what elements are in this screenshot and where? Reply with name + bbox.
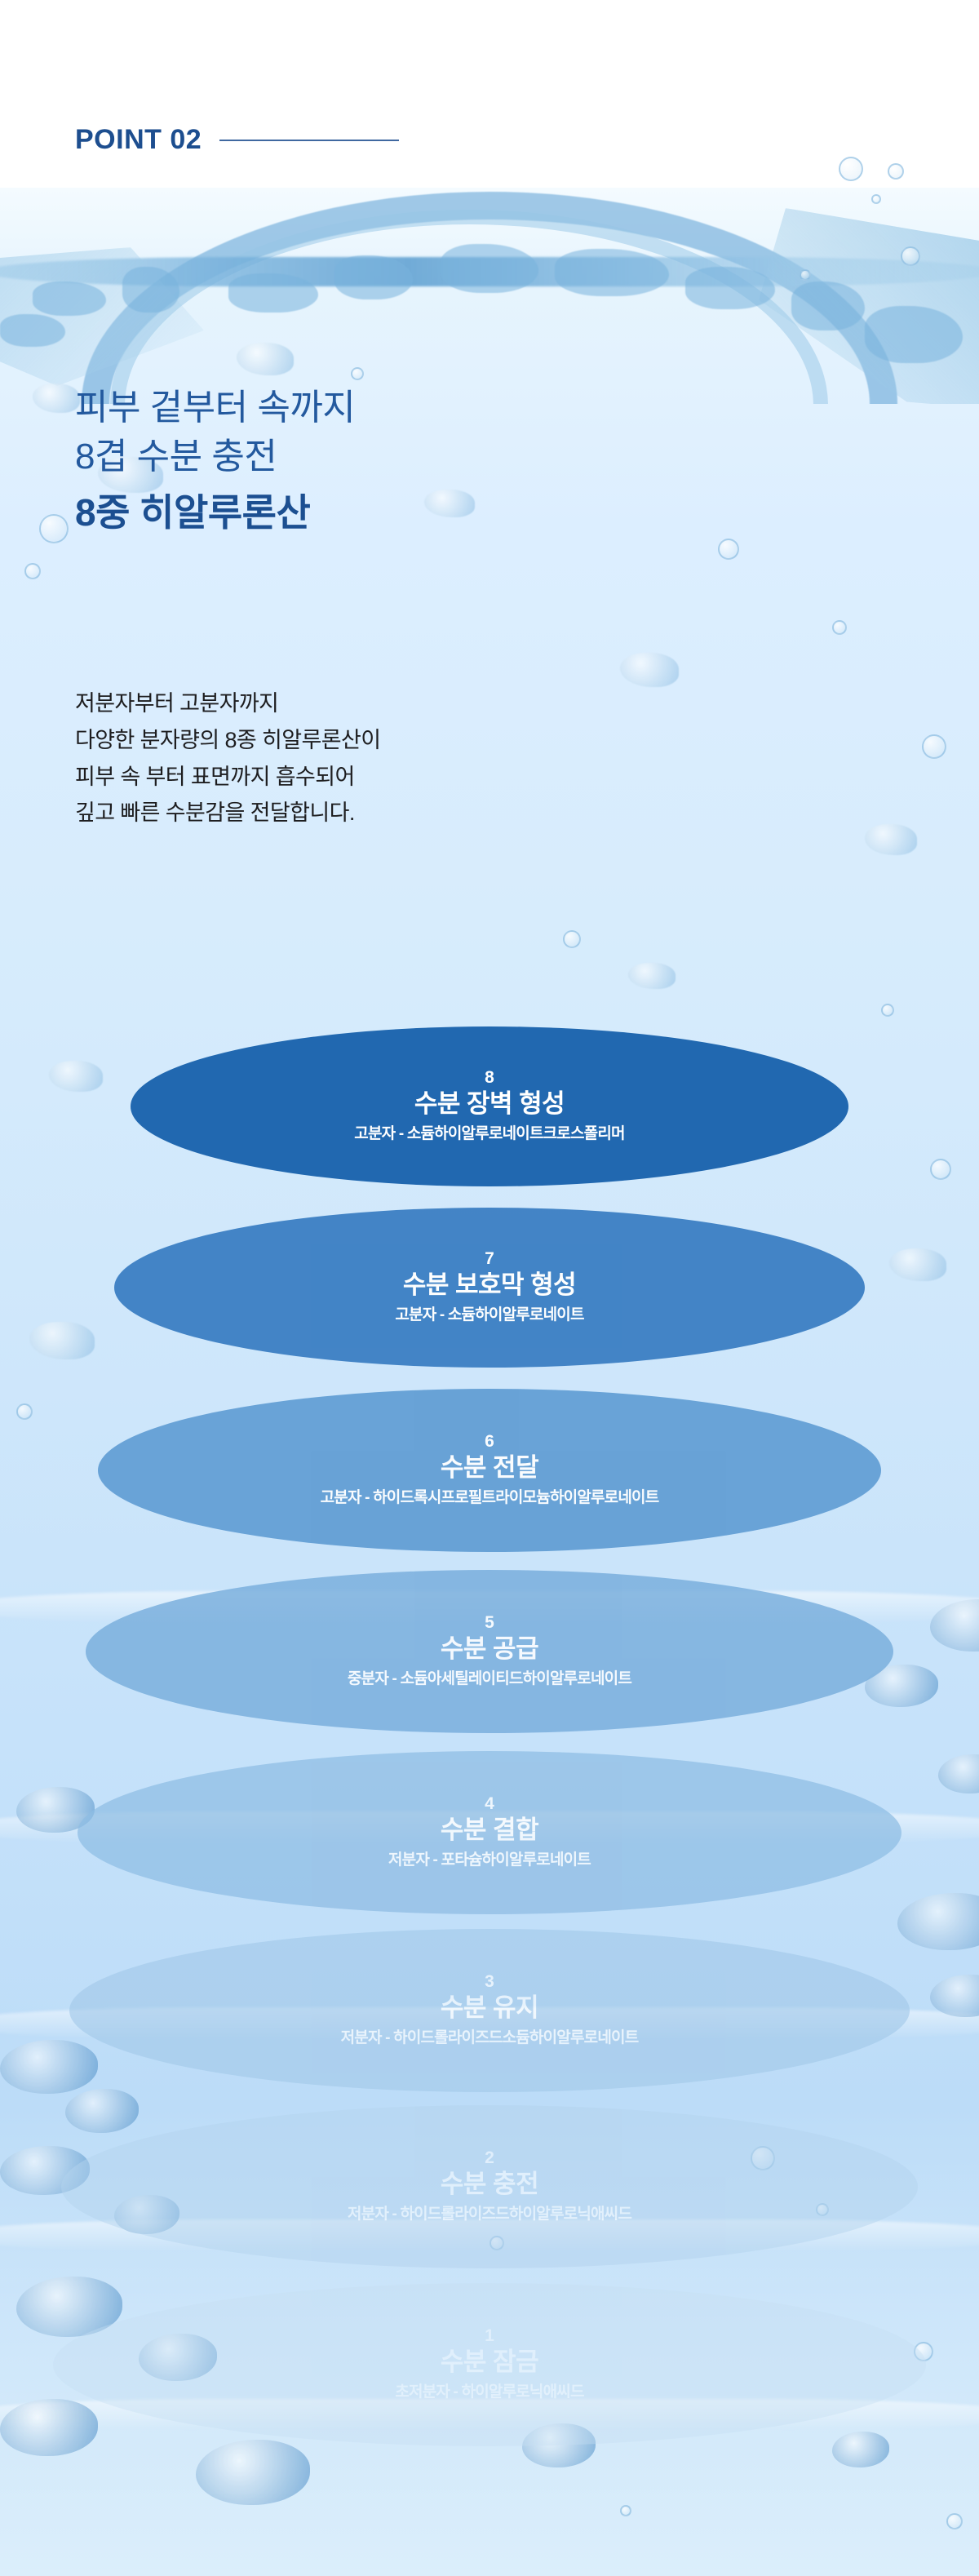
bubble-icon xyxy=(351,367,364,380)
bubble-icon xyxy=(922,734,946,759)
point-header: POINT 02 xyxy=(75,124,399,156)
layer-1-subtitle: 초저분자 - 하이알루로닉애씨드 xyxy=(395,2383,583,2402)
bubble-icon xyxy=(839,157,863,181)
layer-2: 2 수분 충전 저분자 - 하이드롤라이즈드하이알루로닉애씨드 xyxy=(61,2105,918,2268)
layer-3-title: 수분 유지 xyxy=(441,1994,538,2023)
layer-7-subtitle: 고분자 - 소듐하이알루로네이트 xyxy=(395,1306,583,1325)
point-label: POINT 02 xyxy=(75,124,202,156)
body-line-4: 깊고 빠른 수분감을 전달합니다. xyxy=(75,795,380,831)
layer-1-number: 1 xyxy=(485,2327,494,2344)
headline-line-1: 피부 겉부터 속까지 xyxy=(75,384,355,432)
layer-7: 7 수분 보호막 형성 고분자 - 소듐하이알루로네이트 xyxy=(114,1208,865,1368)
layer-4-subtitle: 저분자 - 포타슘하이알루로네이트 xyxy=(388,1851,591,1870)
layer-6-subtitle: 고분자 - 하이드록시프로필트라이모늄하이알루로네이트 xyxy=(321,1489,659,1508)
bubble-icon xyxy=(901,246,920,266)
layer-6-title: 수분 전달 xyxy=(441,1454,538,1483)
layer-8-number: 8 xyxy=(485,1069,494,1086)
water-splash-image xyxy=(0,159,979,404)
bubble-icon xyxy=(946,2513,963,2529)
bubble-icon xyxy=(620,2505,631,2516)
layer-5-number: 5 xyxy=(485,1614,494,1631)
layer-1: 1 수분 잠금 초저분자 - 하이알루로닉애씨드 xyxy=(53,2283,926,2446)
body-line-2: 다양한 분자량의 8종 히알루론산이 xyxy=(75,722,380,759)
layer-4-number: 4 xyxy=(485,1795,494,1812)
layer-5-title: 수분 공급 xyxy=(441,1635,538,1664)
layer-6: 6 수분 전달 고분자 - 하이드록시프로필트라이모늄하이알루로네이트 xyxy=(98,1389,881,1552)
body-line-1: 저분자부터 고분자까지 xyxy=(75,685,380,722)
layer-6-number: 6 xyxy=(485,1433,494,1450)
headline-line-2: 8겹 수분 충전 xyxy=(75,432,355,481)
bubble-icon xyxy=(563,930,581,948)
bubble-icon xyxy=(718,539,739,560)
layer-3-number: 3 xyxy=(485,1973,494,1990)
layer-1-title: 수분 잠금 xyxy=(441,2348,538,2377)
headline-line-3: 8중 히알루론산 xyxy=(75,486,355,539)
layer-8: 8 수분 장벽 형성 고분자 - 소듐하이알루로네이트크로스폴리머 xyxy=(131,1026,848,1186)
bubble-icon xyxy=(39,514,69,543)
bubble-icon xyxy=(832,620,847,635)
layer-7-title: 수분 보호막 형성 xyxy=(403,1271,576,1300)
bubble-icon xyxy=(881,1004,894,1017)
hyaluronic-layer-stack: 8 수분 장벽 형성 고분자 - 소듐하이알루로네이트크로스폴리머 7 수분 보… xyxy=(0,1026,979,2463)
layer-3: 3 수분 유지 저분자 - 하이드롤라이즈드소듐하이알루로네이트 xyxy=(69,1929,910,2092)
bubble-icon xyxy=(24,563,41,579)
layer-2-subtitle: 저분자 - 하이드롤라이즈드하이알루로닉애씨드 xyxy=(348,2206,631,2224)
bubble-icon xyxy=(871,194,881,204)
layer-7-number: 7 xyxy=(485,1250,494,1267)
layer-2-number: 2 xyxy=(485,2149,494,2166)
bubble-icon xyxy=(800,269,811,281)
body-copy: 저분자부터 고분자까지 다양한 분자량의 8종 히알루론산이 피부 속 부터 표… xyxy=(75,685,380,831)
layer-5-subtitle: 중분자 - 소듐아세틸레이티드하이알루로네이트 xyxy=(348,1670,631,1689)
layer-2-title: 수분 충전 xyxy=(441,2170,538,2199)
layer-4: 4 수분 결합 저분자 - 포타슘하이알루로네이트 xyxy=(78,1751,901,1914)
page-title: 피부 겉부터 속까지 8겹 수분 충전 8중 히알루론산 xyxy=(75,384,355,539)
layer-8-title: 수분 장벽 형성 xyxy=(414,1090,565,1119)
layer-4-title: 수분 결합 xyxy=(441,1816,538,1845)
layer-5: 5 수분 공급 중분자 - 소듐아세틸레이티드하이알루로네이트 xyxy=(86,1570,893,1733)
layer-8-subtitle: 고분자 - 소듐하이알루로네이트크로스폴리머 xyxy=(354,1125,624,1144)
splash-shards xyxy=(0,159,979,404)
body-line-3: 피부 속 부터 표면까지 흡수되어 xyxy=(75,759,380,796)
bubble-icon xyxy=(888,163,904,180)
header-divider xyxy=(219,140,399,141)
layer-3-subtitle: 저분자 - 하이드롤라이즈드소듐하이알루로네이트 xyxy=(341,2029,639,2048)
